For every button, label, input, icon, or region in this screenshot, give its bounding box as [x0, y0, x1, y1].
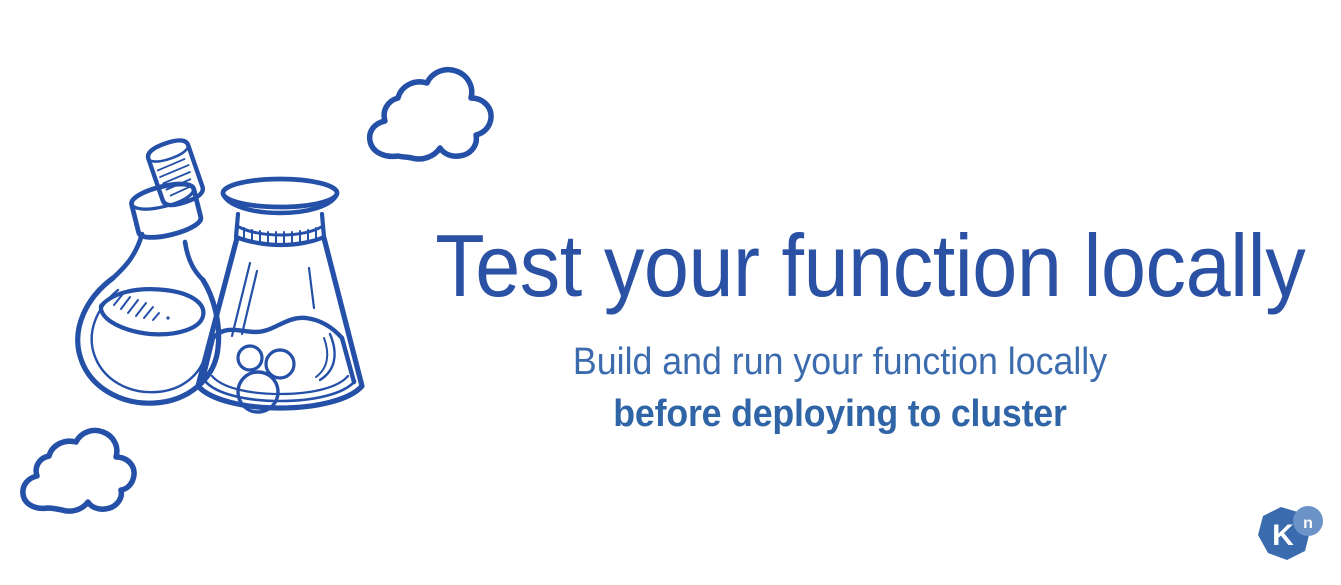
subtitle-line-bold: before deploying to cluster: [426, 388, 1253, 440]
text-block: Test your function locally Build and run…: [400, 222, 1280, 441]
subtitle-line-regular: Build and run your function locally: [426, 336, 1253, 388]
slide-canvas: Test your function locally Build and run…: [0, 0, 1341, 585]
cloud-icon: [352, 62, 510, 168]
knative-logo: K n: [1253, 503, 1325, 573]
cloud-icon: [8, 424, 156, 518]
knative-mark-letter: K: [1272, 519, 1294, 552]
subtitle-block: Build and run your function locally befo…: [400, 336, 1280, 441]
page-title: Test your function locally: [435, 222, 1245, 310]
knative-badge-letter: n: [1303, 515, 1313, 532]
lab-flasks-illustration: [58, 138, 398, 423]
